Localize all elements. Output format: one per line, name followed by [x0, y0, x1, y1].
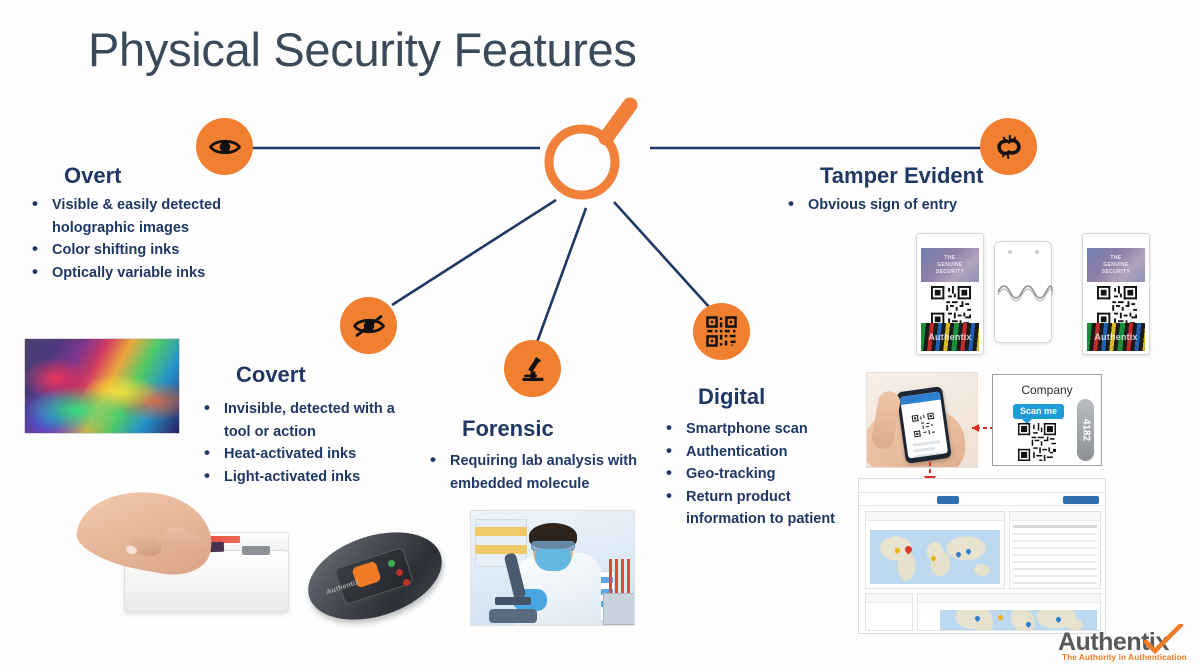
list-item: Heat-activated inks: [202, 443, 402, 466]
tamper-label-hologram: THE GENUINE SECURITY: [921, 248, 979, 282]
list-item: Invisible, detected with a tool or actio…: [202, 398, 402, 443]
map-pin[interactable]: [1025, 621, 1032, 628]
smartphone-body: [896, 386, 952, 464]
dashboard-table-panel: [1009, 511, 1101, 589]
bullet-list-covert: Invisible, detected with a tool or actio…: [202, 398, 402, 488]
geo-tracking-dashboard-screenshot[interactable]: [858, 478, 1106, 634]
smartphone-scan-in-hand-photo: [866, 372, 978, 468]
lab-microscope: [489, 553, 537, 623]
qr-code-icon[interactable]: [1018, 423, 1056, 461]
dashboard-map-panel: [865, 511, 1005, 589]
reader-slot: [242, 546, 270, 555]
label-dot-left: [1008, 250, 1012, 254]
tamper-label-watermark: Authentix: [1087, 323, 1145, 351]
eye-slash-icon[interactable]: [340, 297, 397, 354]
tamper-label-right: THE GENUINE SECURITY: [1082, 233, 1150, 355]
list-item: Light-activated inks: [202, 466, 402, 489]
tamper-label-wave-perforation: [995, 272, 1053, 312]
section-title-tamper-evident: Tamper Evident: [820, 163, 983, 189]
authentix-logo: Authentix The Authority in Authenticatio…: [1058, 628, 1190, 666]
world-map[interactable]: [870, 530, 1000, 584]
section-title-digital: Digital: [698, 384, 765, 410]
table-row[interactable]: [1013, 582, 1097, 584]
scientist-face-mask: [535, 549, 571, 571]
holo-text-line-3: SECURITY: [936, 269, 964, 275]
table-row[interactable]: [1013, 561, 1097, 563]
tamper-label-center-blank: [994, 241, 1052, 343]
table-header-row: [1013, 525, 1097, 528]
list-item: Visible & easily detected holographic im…: [30, 194, 235, 239]
panel-header: [866, 512, 1004, 521]
check-swoosh-icon: [1144, 624, 1184, 654]
scan-me-callout[interactable]: Scan me: [1013, 404, 1064, 419]
map-pin[interactable]: [930, 555, 937, 562]
app-text-line-1: [913, 440, 941, 447]
app-text-line-2: [913, 447, 935, 453]
section-title-covert: Covert: [236, 362, 306, 388]
scientist-at-microscope-photo: [470, 510, 635, 626]
dashboard-top-bar: [859, 479, 1105, 493]
logo-tagline: The Authority in Authentication: [1062, 653, 1187, 662]
list-item: Obvious sign of entry: [786, 194, 1016, 217]
scanner-red-led-2: [403, 579, 410, 586]
panel-header: [1010, 512, 1100, 521]
lab-instrument-box: [603, 593, 635, 625]
holo-text-line-2: GENUINE: [1103, 262, 1129, 268]
tamper-label-color-strip: Authentix: [1087, 323, 1145, 351]
company-label-card: Company Scan me: [992, 374, 1102, 466]
eye-icon[interactable]: [196, 118, 253, 175]
label-dot-right: [1035, 250, 1039, 254]
handheld-oval-scanner-photo: Authentix: [304, 524, 446, 628]
holo-text-line-1: THE: [944, 255, 955, 261]
map-pin[interactable]: [894, 547, 901, 554]
map-pin[interactable]: [955, 551, 962, 558]
vial-code-text: 4182: [1080, 419, 1091, 441]
world-map[interactable]: [940, 610, 1097, 630]
qr-code-icon: [912, 413, 937, 438]
list-item: Geo-tracking: [664, 463, 864, 486]
dashboard-primary-button[interactable]: [937, 496, 959, 504]
dashboard-side-panel: [865, 593, 913, 631]
map-pin[interactable]: [1055, 616, 1062, 623]
microscope-arm: [504, 552, 527, 600]
holo-text-line-3: SECURITY: [1102, 269, 1130, 275]
table-row[interactable]: [1013, 575, 1097, 577]
holo-gloss-overlay: [25, 339, 179, 433]
table-row[interactable]: [1013, 540, 1097, 542]
section-title-forensic: Forensic: [462, 416, 554, 442]
map-pin[interactable]: [904, 545, 914, 555]
microscope-stage: [495, 597, 531, 605]
app-text-line-3: [914, 452, 940, 458]
qr-code-icon: [931, 286, 971, 326]
scanner-green-led: [388, 560, 395, 567]
magnifying-glass-icon: [536, 86, 654, 204]
vial-code-pill: 4182: [1077, 399, 1094, 461]
qr-code-icon: [1097, 286, 1137, 326]
list-item: Color shifting inks: [30, 239, 235, 262]
tamper-label-left: THE GENUINE SECURITY: [916, 233, 984, 355]
company-name: Company: [993, 383, 1101, 397]
slide-canvas: Physical Security Features: [0, 0, 1200, 672]
list-item: Optically variable inks: [30, 262, 235, 285]
bullet-list-forensic: Requiring lab analysis with embedded mol…: [428, 450, 658, 495]
tamper-label-watermark: Authentix: [921, 323, 979, 351]
section-title-overt: Overt: [64, 163, 121, 189]
list-item: Authentication: [664, 441, 864, 464]
table-row[interactable]: [1013, 554, 1097, 556]
app-status-bar: [900, 392, 941, 405]
holographic-rainbow-image: [24, 338, 180, 434]
dashboard-action-button[interactable]: [1063, 496, 1099, 504]
map-pin[interactable]: [997, 614, 1004, 621]
bullet-list-digital: Smartphone scan Authentication Geo-track…: [664, 418, 864, 531]
scanner-red-led-1: [396, 569, 403, 576]
map-pin[interactable]: [965, 548, 972, 555]
microscope-icon[interactable]: [504, 340, 561, 397]
list-item: Requiring lab analysis with embedded mol…: [428, 450, 658, 495]
tamper-label-color-strip: Authentix: [921, 323, 979, 351]
tamper-label-hologram: THE GENUINE SECURITY: [1087, 248, 1145, 282]
panel-header: [866, 594, 912, 603]
microscope-base: [489, 609, 537, 623]
bullet-list-tamper-evident: Obvious sign of entry: [786, 194, 1016, 217]
lab-shelf-row-1: [475, 527, 527, 536]
bullet-list-overt: Visible & easily detected holographic im…: [30, 194, 235, 284]
table-row[interactable]: [1013, 547, 1097, 549]
dashboard-lower-map-panel: [917, 593, 1101, 631]
table-row[interactable]: [1013, 568, 1097, 570]
smartphone-screen: [900, 392, 948, 459]
qr-code-icon[interactable]: [693, 303, 750, 360]
holo-text-line-2: GENUINE: [937, 262, 963, 268]
holo-text-line-1: THE: [1110, 255, 1121, 261]
hand-on-desktop-reader-photo: [66, 492, 291, 634]
map-pin[interactable]: [973, 615, 980, 622]
broken-chain-icon[interactable]: [980, 118, 1037, 175]
table-row[interactable]: [1013, 533, 1097, 535]
panel-header: [918, 594, 1100, 603]
list-item: Smartphone scan: [664, 418, 864, 441]
list-item: Return product information to patient: [664, 486, 864, 531]
